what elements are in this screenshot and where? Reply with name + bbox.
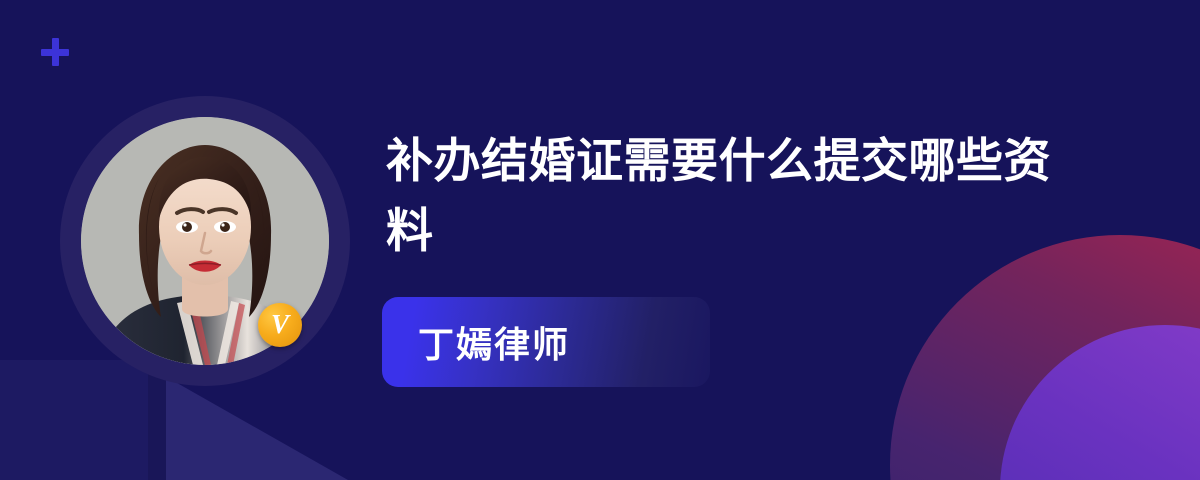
article-cover-banner: V 补办结婚证需要什么提交哪些资料 丁嫣律师 <box>0 0 1200 480</box>
verified-badge-letter: V <box>271 311 289 338</box>
verified-v-icon: V <box>258 303 302 347</box>
plus-icon <box>41 38 69 66</box>
page-title: 补办结婚证需要什么提交哪些资料 <box>386 126 1086 266</box>
author-name-badge[interactable]: 丁嫣律师 <box>382 297 710 387</box>
purple-arc-decoration <box>1000 325 1200 480</box>
avatar[interactable]: V <box>60 96 350 386</box>
author-name-label: 丁嫣律师 <box>418 316 570 368</box>
background-wedge-triangle <box>163 375 348 480</box>
magenta-arc-decoration <box>890 235 1200 480</box>
plus-icon-vertical-bar <box>52 38 59 66</box>
plus-icon-horizontal-bar <box>41 49 69 56</box>
